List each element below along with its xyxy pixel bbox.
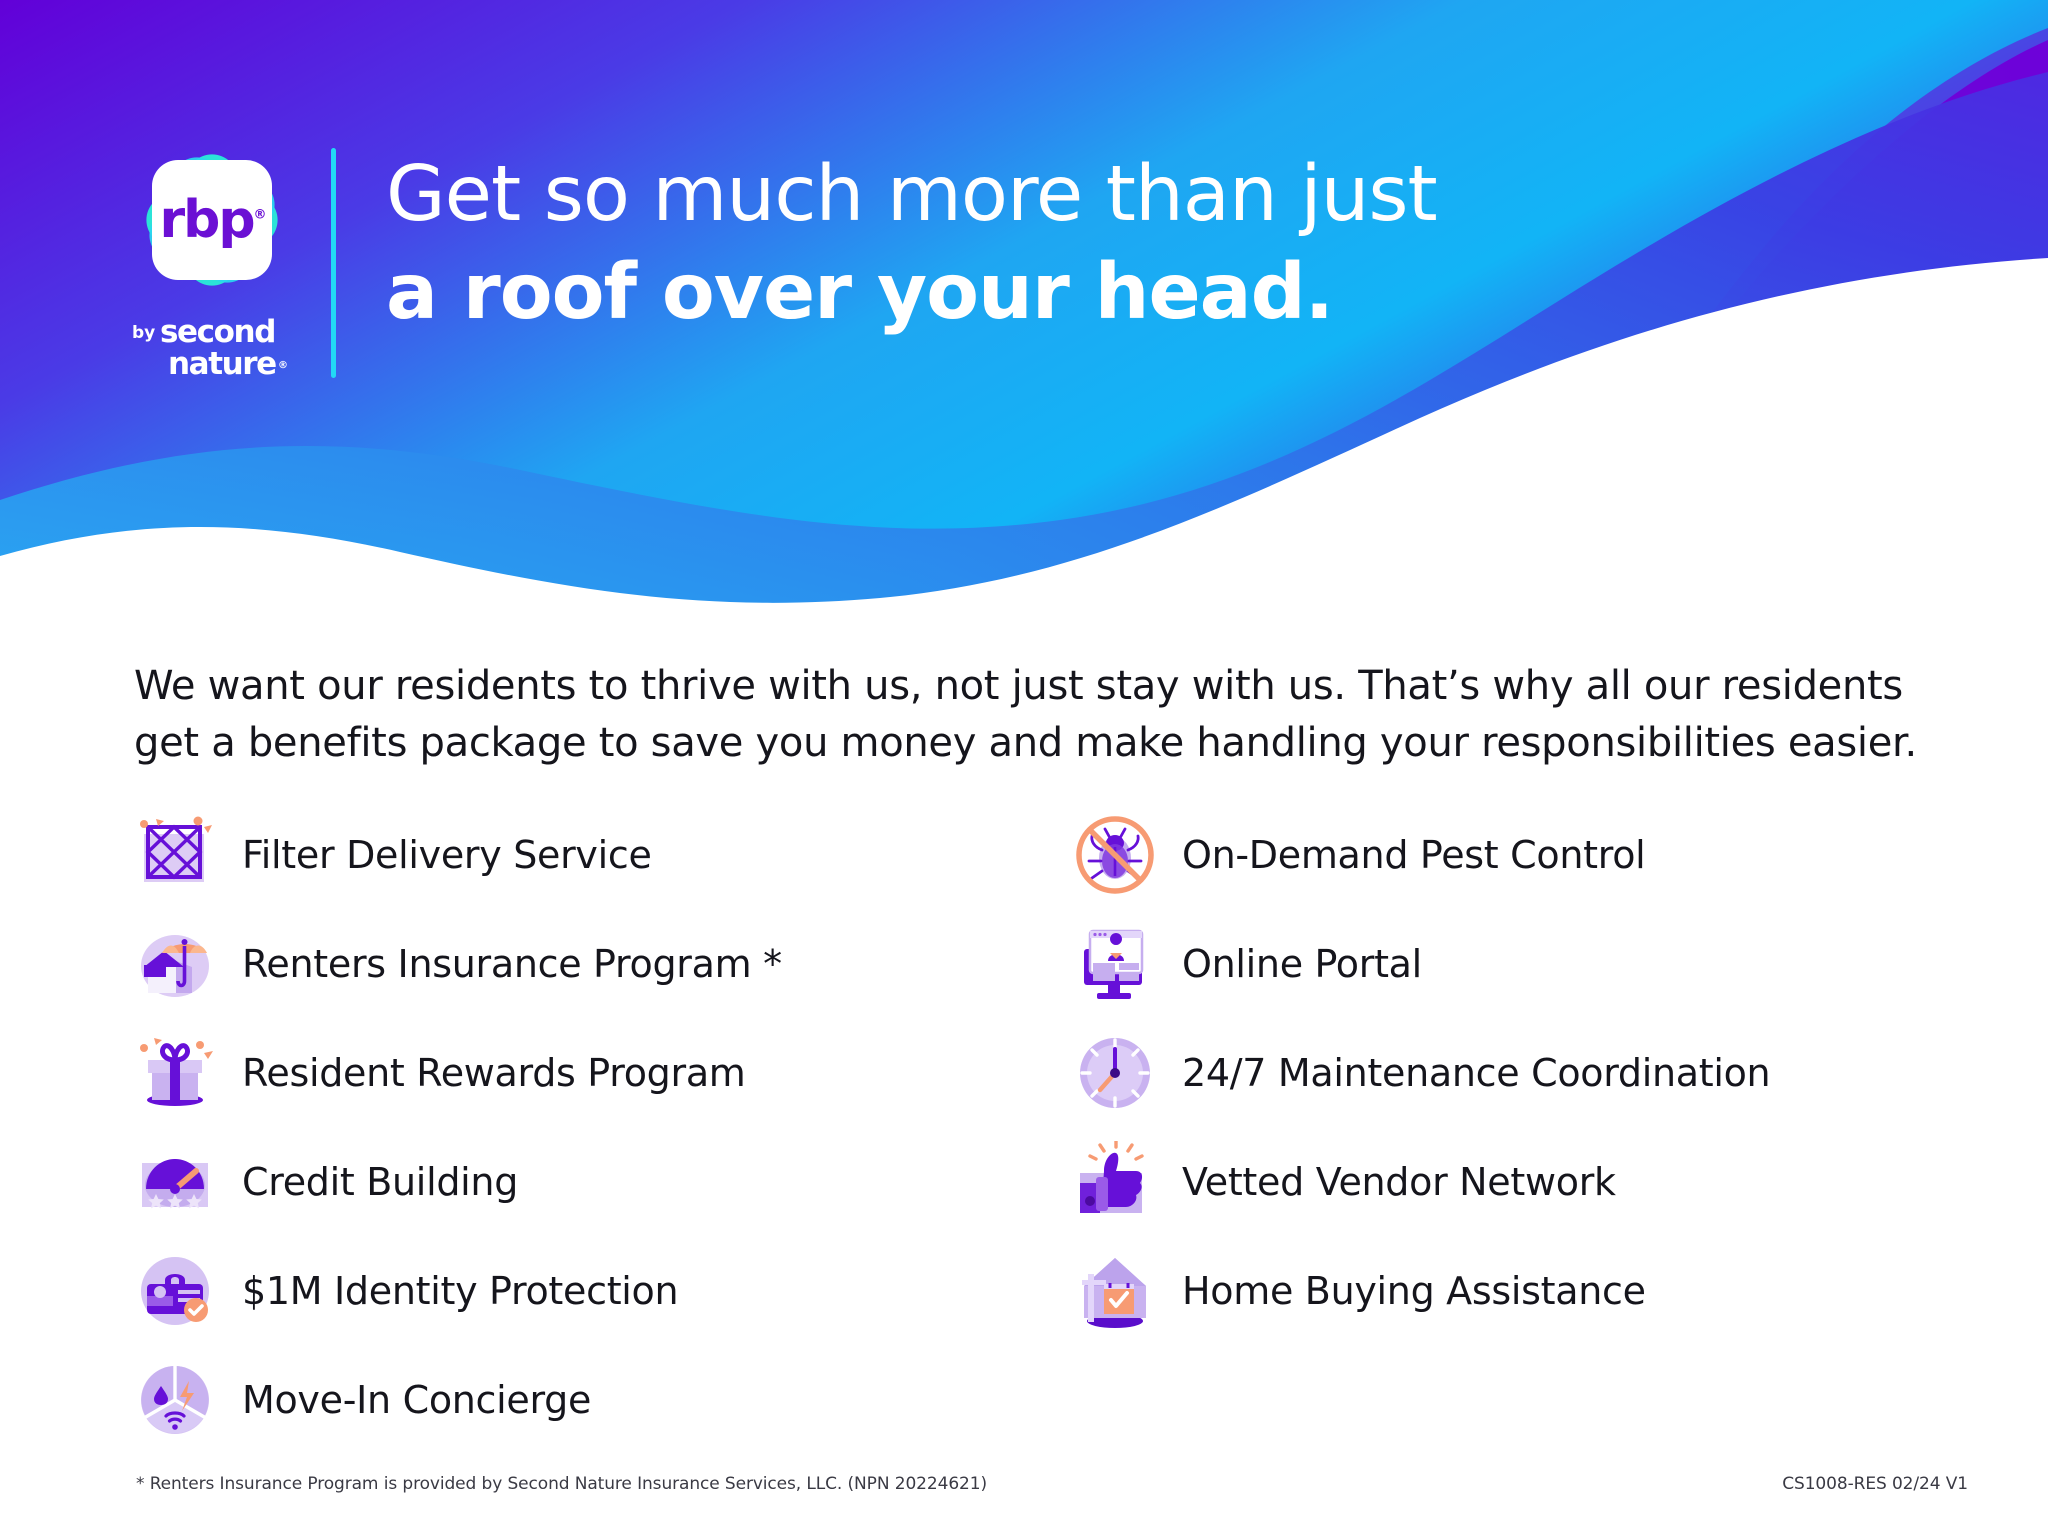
- byline-by-text: by: [132, 323, 155, 343]
- benefit-label: 24/7 Maintenance Coordination: [1182, 1051, 1770, 1095]
- benefit-label: Resident Rewards Program: [242, 1051, 746, 1095]
- benefit-label: On-Demand Pest Control: [1182, 833, 1645, 877]
- benefits-left-column: Filter Delivery Service Renters Insuranc…: [134, 800, 994, 1454]
- logo-byline: by second nature ®: [128, 312, 296, 389]
- logo-wordmark: rbp®: [159, 194, 264, 246]
- benefits-right-column: On-Demand Pest Control: [1074, 800, 1934, 1454]
- clock-icon: [1074, 1032, 1156, 1114]
- air-filter-icon: [134, 814, 216, 896]
- benefit-item: Credit Building: [134, 1127, 994, 1236]
- footer-document-code: CS1008-RES 02/24 V1: [1782, 1474, 1968, 1494]
- benefit-label: Move-In Concierge: [242, 1378, 591, 1422]
- byline-registered-text: ®: [278, 360, 288, 371]
- logo-white-tile: rbp®: [152, 160, 272, 280]
- headline-line-2: a roof over your head.: [386, 250, 1437, 336]
- benefit-label: Vetted Vendor Network: [1182, 1160, 1616, 1204]
- benefit-item: Filter Delivery Service: [134, 800, 994, 909]
- brand-logo: rbp® by second nature ®: [128, 142, 296, 389]
- benefit-item: On-Demand Pest Control: [1074, 800, 1934, 909]
- second-nature-byline-art: by second nature ®: [128, 312, 296, 384]
- benefit-label: Home Buying Assistance: [1182, 1269, 1646, 1313]
- gift-box-icon: [134, 1032, 216, 1114]
- benefit-item: Vetted Vendor Network: [1074, 1127, 1934, 1236]
- header-banner: rbp® by second nature ® Get so much more…: [0, 0, 2048, 610]
- byline-second-text: second: [160, 314, 275, 350]
- benefit-item: Move-In Concierge: [134, 1345, 994, 1454]
- benefit-item: Home Buying Assistance: [1074, 1236, 1934, 1345]
- benefit-label: Filter Delivery Service: [242, 833, 652, 877]
- benefit-item: Renters Insurance Program *: [134, 909, 994, 1018]
- no-pest-icon: [1074, 814, 1156, 896]
- id-card-lock-icon: [134, 1250, 216, 1332]
- credit-gauge-icon: [134, 1141, 216, 1223]
- headline-line-1: Get so much more than just: [386, 152, 1437, 238]
- thumbs-up-icon: [1074, 1141, 1156, 1223]
- benefit-item: Resident Rewards Program: [134, 1018, 994, 1127]
- footer-disclaimer: * Renters Insurance Program is provided …: [136, 1474, 987, 1494]
- house-sign-icon: [1074, 1250, 1156, 1332]
- page-title: Get so much more than just a roof over y…: [386, 152, 1437, 336]
- utilities-wheel-icon: [134, 1359, 216, 1441]
- benefit-item: Online Portal: [1074, 909, 1934, 1018]
- benefit-label: Renters Insurance Program *: [242, 942, 782, 986]
- byline-nature-text: nature: [168, 346, 276, 382]
- benefit-item: $1M Identity Protection: [134, 1236, 994, 1345]
- rbp-logo-mark: rbp®: [134, 142, 290, 298]
- benefit-label: Online Portal: [1182, 942, 1422, 986]
- monitor-portal-icon: [1074, 923, 1156, 1005]
- benefits-list: Filter Delivery Service Renters Insuranc…: [134, 800, 1934, 1454]
- benefit-label: Credit Building: [242, 1160, 518, 1204]
- umbrella-house-icon: [134, 923, 216, 1005]
- header-divider: [331, 148, 336, 378]
- benefit-item: 24/7 Maintenance Coordination: [1074, 1018, 1934, 1127]
- intro-paragraph: We want our residents to thrive with us,…: [134, 658, 1924, 772]
- benefit-label: $1M Identity Protection: [242, 1269, 678, 1313]
